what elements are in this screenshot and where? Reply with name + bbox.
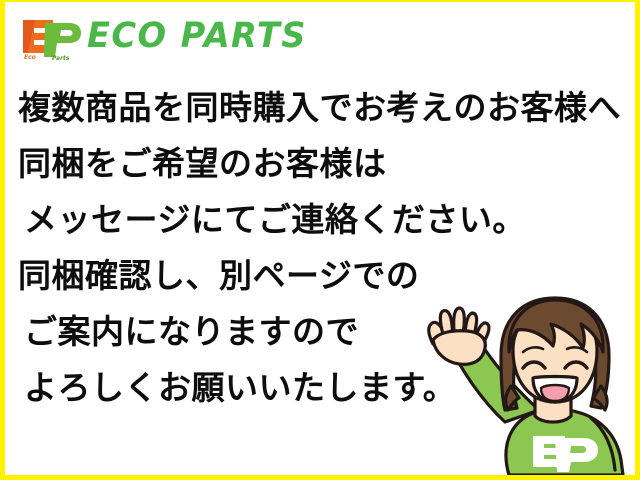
message-line-4: 同梱確認し、別ページでの [18,248,628,304]
message-line-5: ご案内になりますので [18,304,628,360]
message-line-3: メッセージにてご連絡ください。 [18,192,628,248]
border-right [635,0,640,480]
eco-parts-logo-icon: Eco Parts [19,14,85,60]
message-line-2: 同梱をご希望のお客様は [18,136,628,192]
brand-wordmark: ECO PARTS [87,16,307,56]
border-left [0,0,5,480]
eco-parts-banner: Eco Parts ECO PARTS 複数商品を同時購入でお考えのお客様へ 同… [0,0,640,480]
message-block: 複数商品を同時購入でお考えのお客様へ 同梱をご希望のお客様は メッセージにてご連… [18,80,628,416]
message-line-1: 複数商品を同時購入でお考えのお客様へ [18,80,628,136]
logo-caption-parts: Parts [52,55,70,60]
header: Eco Parts ECO PARTS [0,8,640,64]
message-line-6: よろしくお願いいたします。 [18,360,628,416]
border-bottom [0,475,640,480]
logo-caption-eco: Eco [24,54,36,60]
border-top [0,0,640,2]
